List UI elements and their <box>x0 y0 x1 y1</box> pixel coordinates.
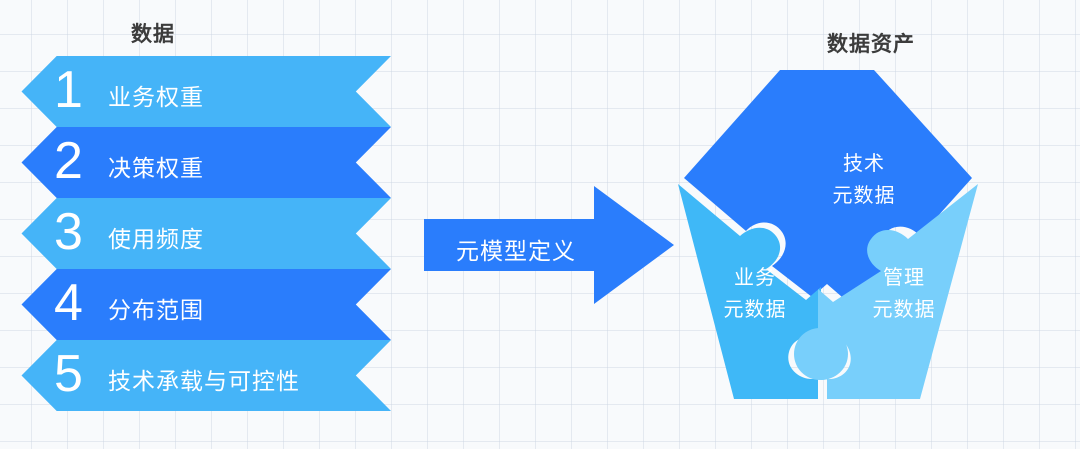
puzzle-label-business-line2: 元数据 <box>724 298 787 321</box>
right-section-title: 数据资产 <box>827 28 915 58</box>
chevron-number-5: 5 <box>54 348 106 400</box>
chevron-number-1: 1 <box>54 64 106 116</box>
left-section-title: 数据 <box>131 18 175 48</box>
chevron-item-1[interactable]: 1 业务权重 <box>0 56 391 127</box>
transition-arrow: 元模型定义 <box>424 186 674 304</box>
chevron-item-4[interactable]: 4 分布范围 <box>0 269 391 340</box>
puzzle-label-management-line1: 管理 <box>883 266 925 289</box>
puzzle-label-management-line2: 元数据 <box>873 298 936 321</box>
hexagon-puzzle: 技术 元数据 业务 元数据 管理 元数据 <box>672 62 982 407</box>
chevron-item-5[interactable]: 5 技术承载与可控性 <box>0 340 391 411</box>
arrow-label: 元模型定义 <box>456 232 576 266</box>
chevron-label-3: 使用频度 <box>108 220 204 254</box>
chevron-label-2: 决策权重 <box>108 149 204 183</box>
chevron-number-3: 3 <box>54 206 106 258</box>
chevron-label-1: 业务权重 <box>108 78 204 112</box>
chevron-label-5: 技术承载与可控性 <box>108 362 300 396</box>
chevron-label-4: 分布范围 <box>108 291 204 325</box>
chevron-number-4: 4 <box>54 277 106 329</box>
diagram-canvas: 数据 1 业务权重 2 决策权重 3 使用频度 4 分布范围 5 技术承载与可控… <box>0 0 1080 449</box>
puzzle-label-tech-line2: 元数据 <box>833 184 896 207</box>
puzzle-label-business-line1: 业务 <box>734 266 776 289</box>
chevron-item-2[interactable]: 2 决策权重 <box>0 127 391 198</box>
chevron-number-2: 2 <box>54 135 106 187</box>
chevron-item-3[interactable]: 3 使用频度 <box>0 198 391 269</box>
chevron-list: 1 业务权重 2 决策权重 3 使用频度 4 分布范围 5 技术承载与可控性 <box>0 56 400 416</box>
puzzle-label-tech-line1: 技术 <box>843 152 885 175</box>
